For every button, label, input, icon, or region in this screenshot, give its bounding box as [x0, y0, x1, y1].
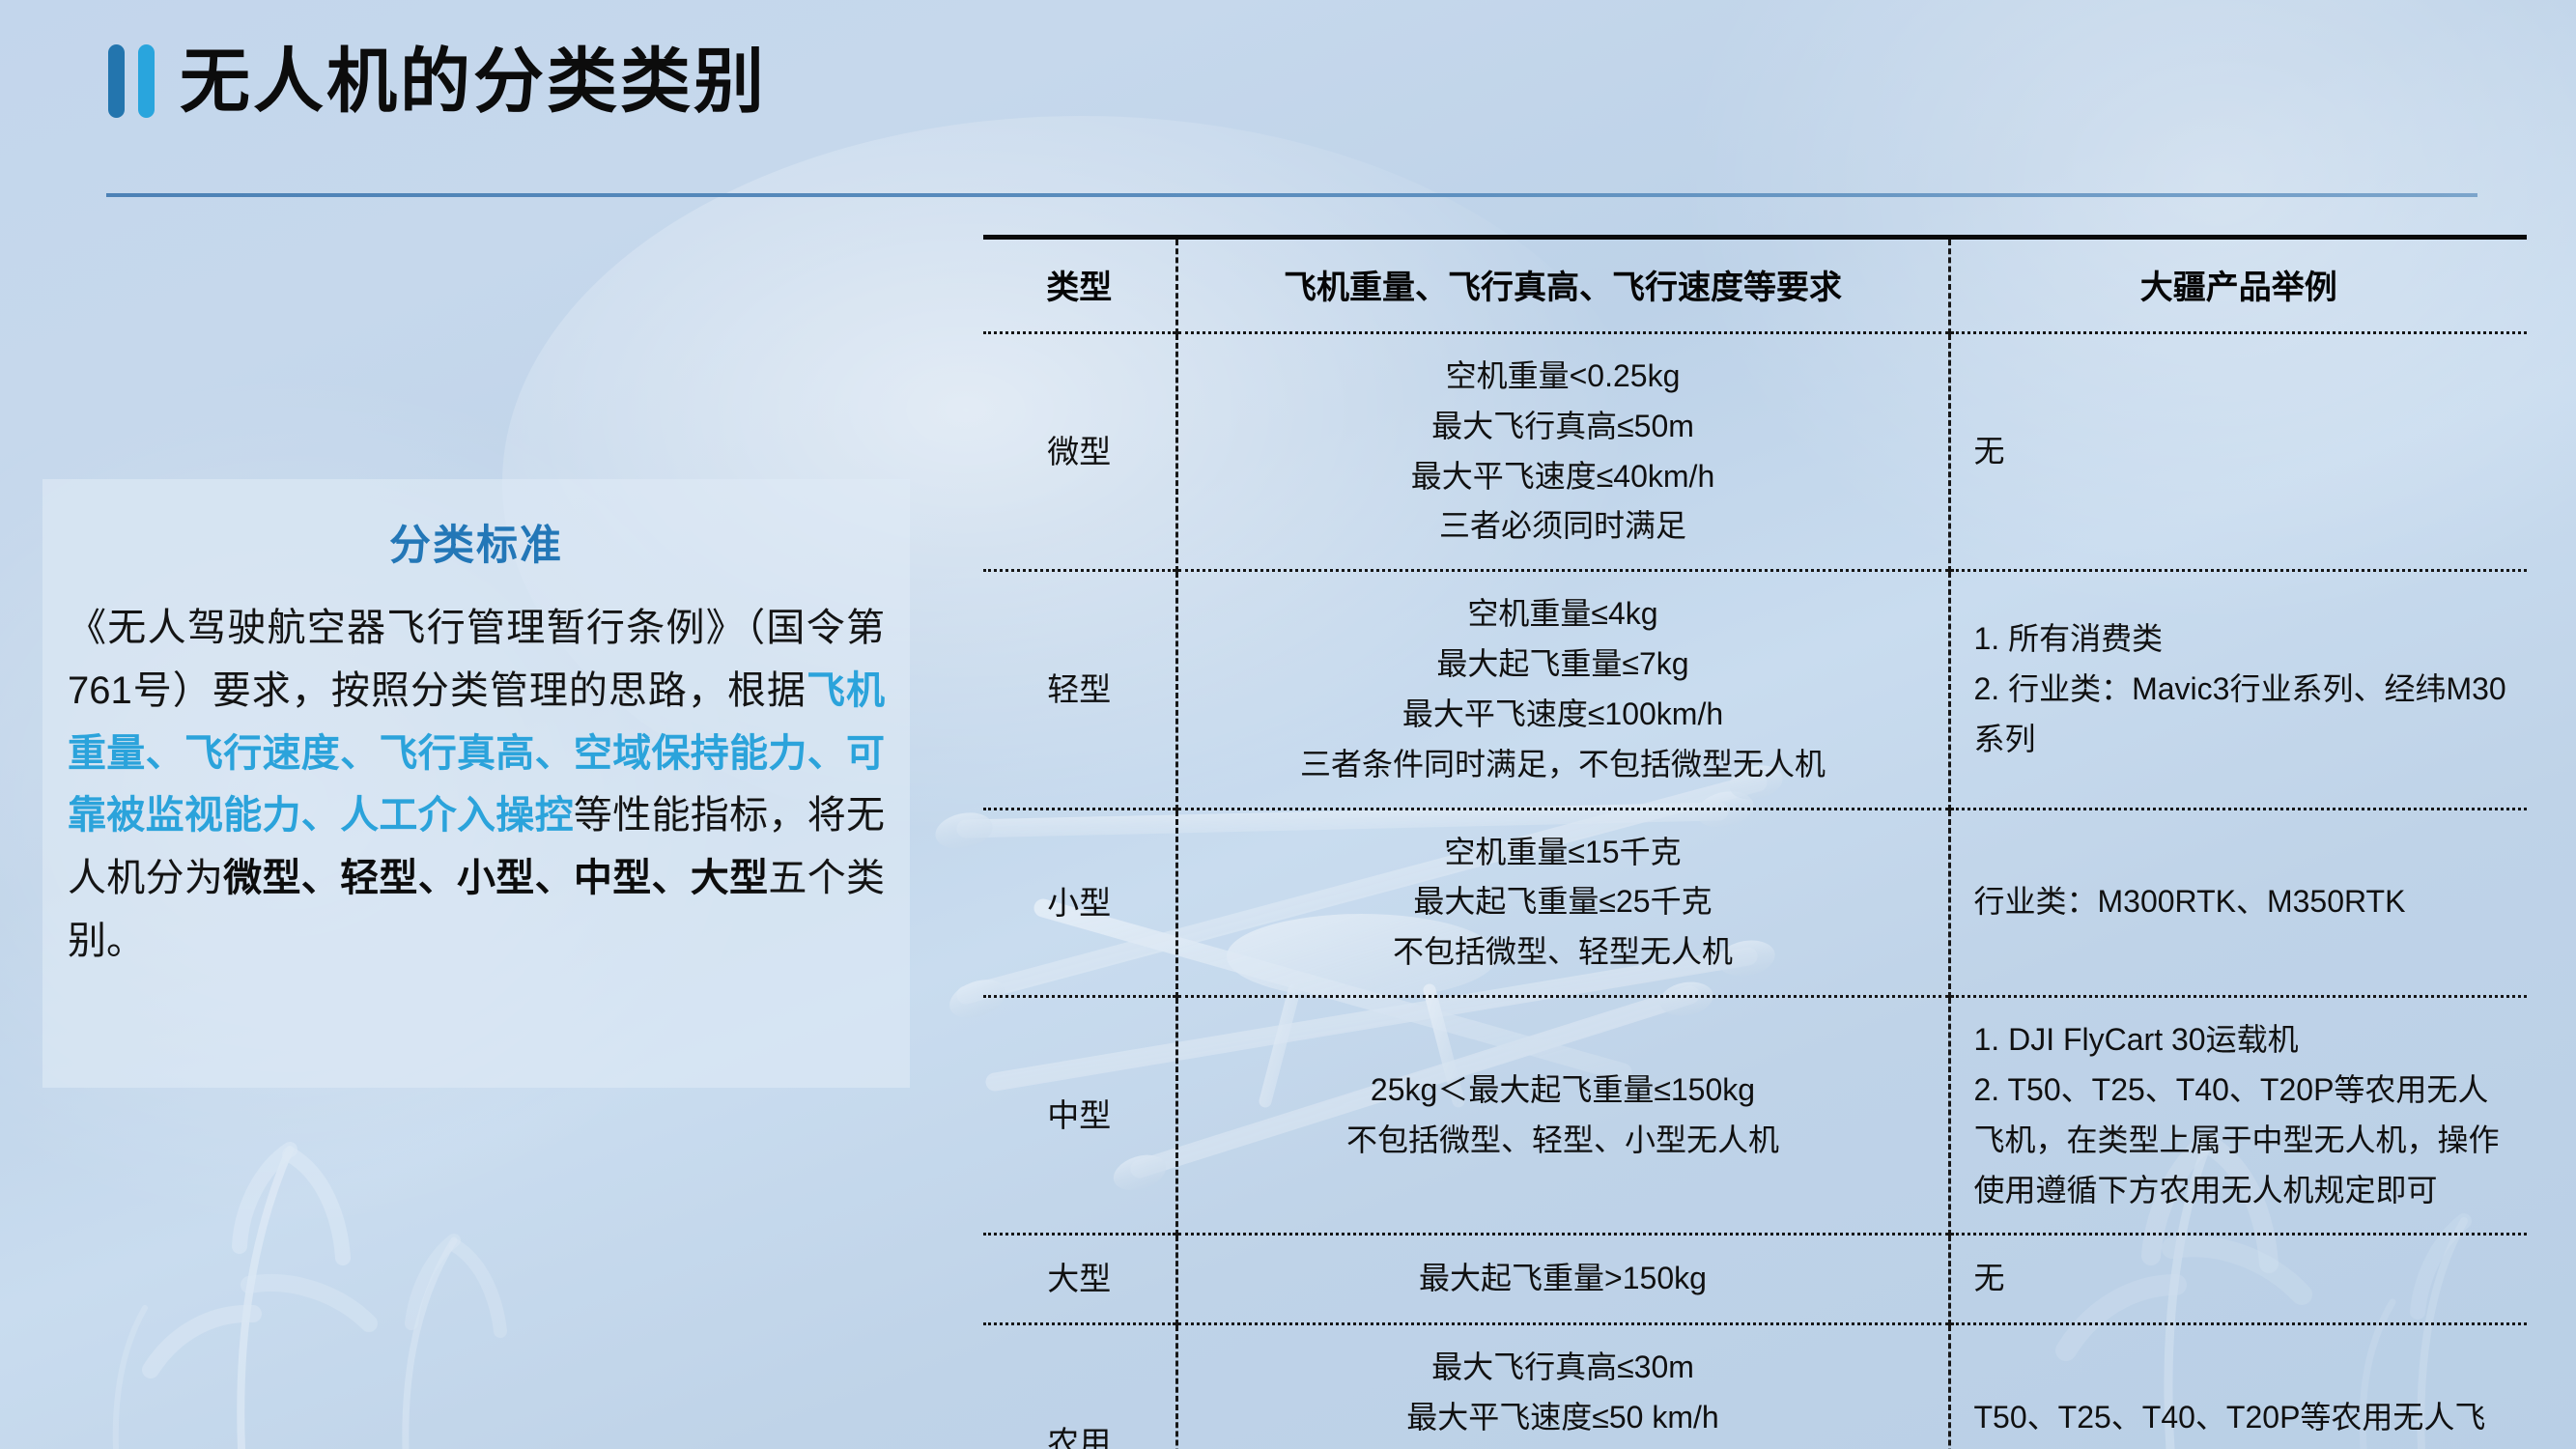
requirement-line: 空机重量≤4kg	[1205, 589, 1921, 639]
page-heading: 无人机的分类类别	[108, 44, 767, 118]
requirement-line: 最大起飞重量≤25千克	[1205, 877, 1921, 927]
column-header-dji-examples: 大疆产品举例	[1949, 238, 2527, 333]
accent-bar-dark-icon	[108, 44, 125, 118]
requirement-line: 最大飞行半径≤2000米	[1205, 1443, 1921, 1449]
requirement-line: 三者条件同时满足，不包括微型无人机	[1205, 740, 1921, 790]
cell-requirements: 空机重量≤4kg最大起飞重量≤7kg最大平飞速度≤100km/h三者条件同时满足…	[1176, 571, 1949, 809]
requirement-line: 不包括微型、轻型无人机	[1205, 927, 1921, 978]
cell-type: 中型	[983, 997, 1176, 1235]
requirement-line: 25kg＜最大起飞重量≤150kg	[1205, 1065, 1921, 1116]
requirement-line: 最大起飞重量>150kg	[1205, 1254, 1921, 1304]
info-card-body-segment-3: 微型、轻型、小型、中型、大型	[223, 857, 768, 899]
requirement-line: 三者必须同时满足	[1205, 501, 1921, 552]
classification-standard-card: 分类标准 《无人驾驶航空器飞行管理暂行条例》（国令第761号）要求，按照分类管理…	[42, 479, 910, 1088]
cell-type: 大型	[983, 1235, 1176, 1323]
table-row: 大型最大起飞重量>150kg无	[983, 1235, 2527, 1323]
cell-dji-examples: 1. DJI FlyCart 30运载机2. T50、T25、T40、T20P等…	[1949, 997, 2527, 1235]
cell-dji-examples: T50、T25、T40、T20P等农用无人飞机	[1949, 1323, 2527, 1449]
cell-type: 微型	[983, 333, 1176, 571]
dji-example-line: 无	[1974, 1254, 2510, 1304]
dji-example-line: T50、T25、T40、T20P等农用无人飞机	[1974, 1393, 2510, 1449]
column-header-requirements: 飞机重量、飞行真高、飞行速度等要求	[1176, 238, 1949, 333]
cell-requirements: 空机重量≤15千克最大起飞重量≤25千克不包括微型、轻型无人机	[1176, 809, 1949, 996]
cell-requirements: 最大起飞重量>150kg	[1176, 1235, 1949, 1323]
requirement-line: 不包括微型、轻型、小型无人机	[1205, 1116, 1921, 1166]
table-body: 微型空机重量<0.25kg最大飞行真高≤50m最大平飞速度≤40km/h三者必须…	[983, 333, 2527, 1449]
dji-example-line: 1. 所有消费类	[1974, 614, 2510, 665]
info-card-body: 《无人驾驶航空器飞行管理暂行条例》（国令第761号）要求，按照分类管理的思路，根…	[68, 597, 885, 973]
drone-classification-table-container: 类型 飞机重量、飞行真高、飞行速度等要求 大疆产品举例 微型空机重量<0.25k…	[983, 235, 2527, 1449]
requirement-line: 最大起飞重量≤7kg	[1205, 639, 1921, 690]
cell-type: 轻型	[983, 571, 1176, 809]
cell-dji-examples: 1. 所有消费类2. 行业类：Mavic3行业系列、经纬M30系列	[1949, 571, 2527, 809]
table-row: 农用最大飞行真高≤30m最大平飞速度≤50 km/h最大飞行半径≤2000米专门…	[983, 1323, 2527, 1449]
requirement-line: 最大飞行真高≤50m	[1205, 402, 1921, 452]
cell-dji-examples: 无	[1949, 1235, 2527, 1323]
table-header: 类型 飞机重量、飞行真高、飞行速度等要求 大疆产品举例	[983, 238, 2527, 333]
cell-requirements: 空机重量<0.25kg最大飞行真高≤50m最大平飞速度≤40km/h三者必须同时…	[1176, 333, 1949, 571]
dji-example-line: 无	[1974, 427, 2510, 477]
dji-example-line: 2. T50、T25、T40、T20P等农用无人飞机，在类型上属于中型无人机，操…	[1974, 1065, 2510, 1215]
accent-bar-light-icon	[138, 44, 155, 118]
info-card-title: 分类标准	[68, 512, 885, 572]
cell-type: 农用	[983, 1323, 1176, 1449]
table-row: 微型空机重量<0.25kg最大飞行真高≤50m最大平飞速度≤40km/h三者必须…	[983, 333, 2527, 571]
drone-classification-table: 类型 飞机重量、飞行真高、飞行速度等要求 大疆产品举例 微型空机重量<0.25k…	[983, 235, 2527, 1449]
table-row: 小型空机重量≤15千克最大起飞重量≤25千克不包括微型、轻型无人机行业类：M30…	[983, 809, 2527, 996]
table-row: 中型25kg＜最大起飞重量≤150kg不包括微型、轻型、小型无人机1. DJI …	[983, 997, 2527, 1235]
slide-canvas: 无人机的分类类别 分类标准 《无人驾驶航空器飞行管理暂行条例》（国令第761号）…	[0, 0, 2576, 1449]
requirement-line: 最大平飞速度≤50 km/h	[1205, 1393, 1921, 1443]
cell-type: 小型	[983, 809, 1176, 996]
dji-example-line: 行业类：M300RTK、M350RTK	[1974, 877, 2510, 927]
cell-dji-examples: 行业类：M300RTK、M350RTK	[1949, 809, 2527, 996]
info-card-body-segment-0: 《无人驾驶航空器飞行管理暂行条例》（国令第761号）要求，按照分类管理的思路，根…	[68, 607, 885, 712]
page-title: 无人机的分类类别	[180, 46, 767, 117]
title-divider	[106, 193, 2477, 197]
column-header-type: 类型	[983, 238, 1176, 333]
heading-accent-bars	[108, 44, 155, 118]
cell-dji-examples: 无	[1949, 333, 2527, 571]
requirement-line: 最大平飞速度≤100km/h	[1205, 690, 1921, 740]
table-row: 轻型空机重量≤4kg最大起飞重量≤7kg最大平飞速度≤100km/h三者条件同时…	[983, 571, 2527, 809]
requirement-line: 最大平飞速度≤40km/h	[1205, 452, 1921, 502]
cell-requirements: 25kg＜最大起飞重量≤150kg不包括微型、轻型、小型无人机	[1176, 997, 1949, 1235]
requirement-line: 空机重量<0.25kg	[1205, 352, 1921, 402]
dji-example-line: 1. DJI FlyCart 30运载机	[1974, 1015, 2510, 1065]
requirement-line: 空机重量≤15千克	[1205, 828, 1921, 878]
dji-example-line: 2. 行业类：Mavic3行业系列、经纬M30系列	[1974, 665, 2510, 765]
requirement-line: 最大飞行真高≤30m	[1205, 1343, 1921, 1393]
table-header-row: 类型 飞机重量、飞行真高、飞行速度等要求 大疆产品举例	[983, 238, 2527, 333]
cell-requirements: 最大飞行真高≤30m最大平飞速度≤50 km/h最大飞行半径≤2000米专门用于…	[1176, 1323, 1949, 1449]
